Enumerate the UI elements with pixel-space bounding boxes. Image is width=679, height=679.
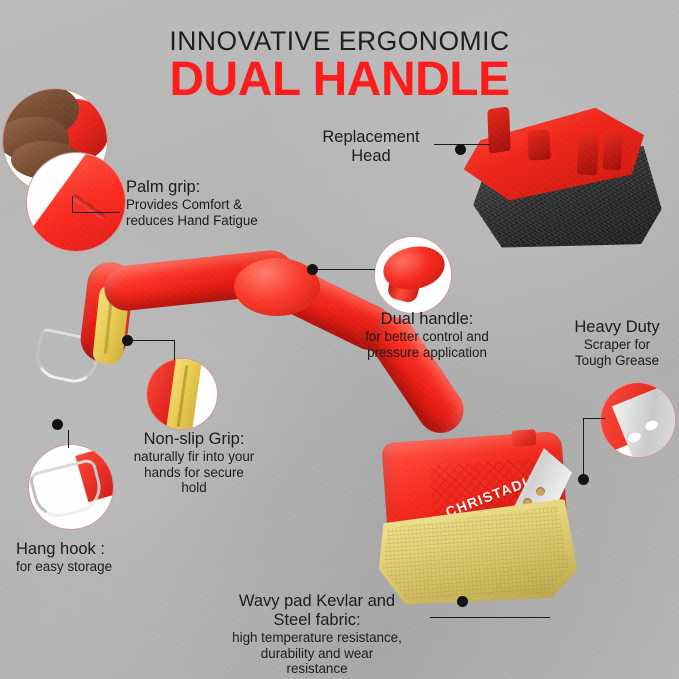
callout-palm-grip-line2: reduces Hand Fatigue [126,213,258,229]
callout-palm-grip: Palm grip: Provides Comfort & reduces Ha… [126,178,258,228]
callout-dual-handle-heading: Dual handle: [338,310,516,329]
callout-replacement-head-line1: Replacement [306,128,436,147]
callout-palm-grip-heading: Palm grip: [126,178,258,197]
callout-hang-hook: Hang hook : for easy storage [16,540,112,575]
dot-dual-handle [307,264,318,275]
dot-replacement-head [455,144,466,155]
leader-dual-handle [313,269,375,270]
callout-replacement-head-line2: Head [306,147,436,166]
callout-dual-handle-line2: pressure application [338,345,516,361]
callout-palm-grip-line1: Provides Comfort & [126,197,258,213]
callout-heavy-duty: Heavy Duty Scraper for Tough Grease [556,318,678,368]
callout-wavy-pad: Wavy pad Kevlar and Steel fabric: high t… [186,592,448,677]
callout-wavy-pad-line2: Steel fabric: [186,611,448,630]
callout-non-slip-line2: hands for secure [96,465,292,481]
leader-heavy-duty-v [583,418,584,480]
inset-ridged-handle [26,152,126,252]
callout-replacement-head: Replacement Head [306,128,436,166]
replacement-clip-right-a [577,132,600,175]
leader-non-slip-h [128,340,175,341]
leader-hang-hook-v [68,430,69,448]
dot-hang-hook [52,419,63,430]
callout-wavy-pad-body2: durability and wear [186,646,448,662]
callout-dual-handle: Dual handle: for better control and pres… [338,310,516,360]
leader-wavy-pad [430,617,550,618]
inset-dual-handle-knob [374,236,452,314]
infographic-canvas: CHRISTADIA [0,0,679,679]
callout-wavy-pad-body3: resistance [186,661,448,677]
callout-non-slip-line1: naturally fir into your [96,449,292,465]
callout-hang-hook-line1: for easy storage [16,559,112,575]
dot-wavy-pad [457,596,468,607]
callout-non-slip-heading: Non-slip Grip: [96,430,292,449]
title-line-2: DUAL HANDLE [0,52,679,107]
callout-hang-hook-heading: Hang hook : [16,540,112,559]
replacement-clip-center [527,129,551,160]
callout-wavy-pad-line1: Wavy pad Kevlar and [186,592,448,611]
callout-non-slip-line3: hold [96,480,292,496]
head-clip-top [511,429,536,447]
callout-non-slip-grip: Non-slip Grip: naturally fir into your h… [96,430,292,496]
dot-non-slip [122,335,133,346]
callout-heavy-duty-line2: Tough Grease [556,353,678,369]
callout-dual-handle-line1: for better control and [338,329,516,345]
blade-hole-1 [536,487,545,496]
leader-non-slip-v [174,340,175,360]
leader-palm-grip [72,212,120,213]
callout-wavy-pad-body1: high temperature resistance, [186,630,448,646]
leader-palm-grip-v [72,196,73,213]
dot-heavy-duty [578,474,589,485]
inset-scraper-blade [600,382,676,458]
callout-heavy-duty-heading: Heavy Duty [556,318,678,337]
replacement-clip-right-b [603,131,624,170]
replacement-clip-left [487,106,510,153]
callout-heavy-duty-line1: Scraper for [556,337,678,353]
inset-non-slip-grip [146,358,218,430]
leader-heavy-duty-h [583,418,605,419]
